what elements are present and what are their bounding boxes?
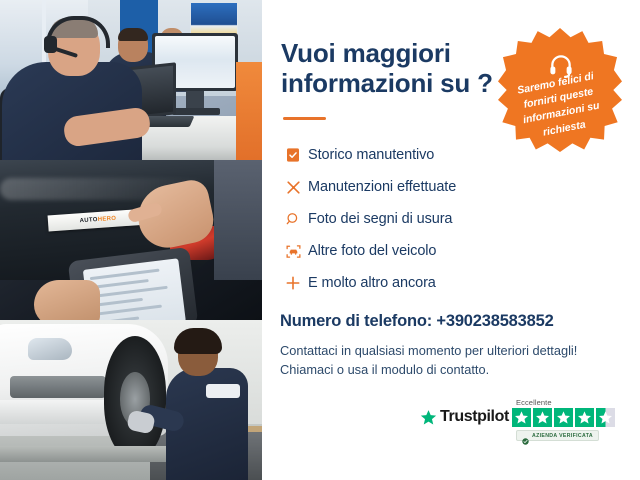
verified-check-icon <box>522 432 529 439</box>
photo-strip: AUTOHERO <box>0 0 262 480</box>
list-item: E molto altro ancora <box>278 267 578 299</box>
second-agent-hair-decor <box>118 28 148 41</box>
trustpilot-wordmark: Trustpilot <box>440 408 509 426</box>
rating-star-3 <box>554 408 573 427</box>
feature-list: Storico manutentivo Manutenzioni effettu… <box>278 139 578 299</box>
list-item-label: Storico manutentivo <box>308 147 434 163</box>
rating-star-2 <box>533 408 552 427</box>
list-item-label: Foto dei segni di usura <box>308 211 452 227</box>
page-title: Vuoi maggiori informazioni su ? <box>281 38 521 98</box>
magnifier-icon <box>278 208 308 230</box>
verified-badge-label: AZIENDA VERIFICATA <box>532 433 593 439</box>
trustpilot-star-rating <box>512 408 615 427</box>
list-item: Foto dei segni di usura <box>278 203 578 235</box>
uniform-patch-decor <box>206 384 240 398</box>
callout-badge: Saremo felici di fornirti queste informa… <box>498 28 622 152</box>
background-person-decor <box>214 160 262 280</box>
trustpilot-rating-label: Eccellente <box>516 398 552 407</box>
list-item: Manutenzioni effettuate <box>278 171 578 203</box>
promo-screenshot: AUTOHERO <box>0 0 640 480</box>
title-divider <box>283 117 326 120</box>
second-hand-decor <box>34 280 100 320</box>
rating-star-1 <box>512 408 531 427</box>
inspection-photo: AUTOHERO <box>0 160 262 320</box>
car-frame-icon <box>278 240 308 262</box>
headlight-decor <box>28 338 72 360</box>
contact-copy: Contattaci in qualsiasi momento per ulte… <box>280 341 620 380</box>
rating-star-5-half <box>596 408 615 427</box>
list-item-label: Manutenzioni effettuate <box>308 179 456 195</box>
list-item: Storico manutentivo <box>278 139 578 171</box>
contact-copy-line2: Chiamaci o usa il modulo di contatto. <box>280 360 620 379</box>
phone-number-line: Numero di telefono: +390238583852 <box>280 312 554 331</box>
ruler-brand-part1: AUTO <box>80 217 98 224</box>
plus-icon <box>278 272 308 294</box>
car-lift-decor <box>0 446 170 462</box>
checklist-icon <box>278 144 308 166</box>
trustpilot-widget[interactable]: Trustpilot Eccellente <box>420 398 630 446</box>
tools-icon <box>278 176 308 198</box>
rating-star-4 <box>575 408 594 427</box>
grille-decor <box>10 376 106 398</box>
list-item-label: Altre foto del veicolo <box>308 243 436 259</box>
trustpilot-brand: Trustpilot <box>420 408 509 426</box>
call-center-photo <box>0 0 262 160</box>
trustpilot-star-icon <box>420 409 437 426</box>
monitor-base-decor <box>172 108 220 115</box>
mechanic-hair-decor <box>174 328 222 354</box>
list-item-label: E molto altro ancora <box>308 275 436 291</box>
contact-copy-line1: Contattaci in qualsiasi momento per ulte… <box>280 341 620 360</box>
workshop-photo <box>0 320 262 480</box>
verified-company-badge: AZIENDA VERIFICATA <box>516 430 599 441</box>
content-panel: Vuoi maggiori informazioni su ? Saremo f… <box>262 0 640 480</box>
ruler-brand-part2: HERO <box>98 216 117 223</box>
list-item: Altre foto del veicolo <box>278 235 578 267</box>
orange-object-decor <box>236 62 262 160</box>
tyre-decor <box>104 336 166 460</box>
